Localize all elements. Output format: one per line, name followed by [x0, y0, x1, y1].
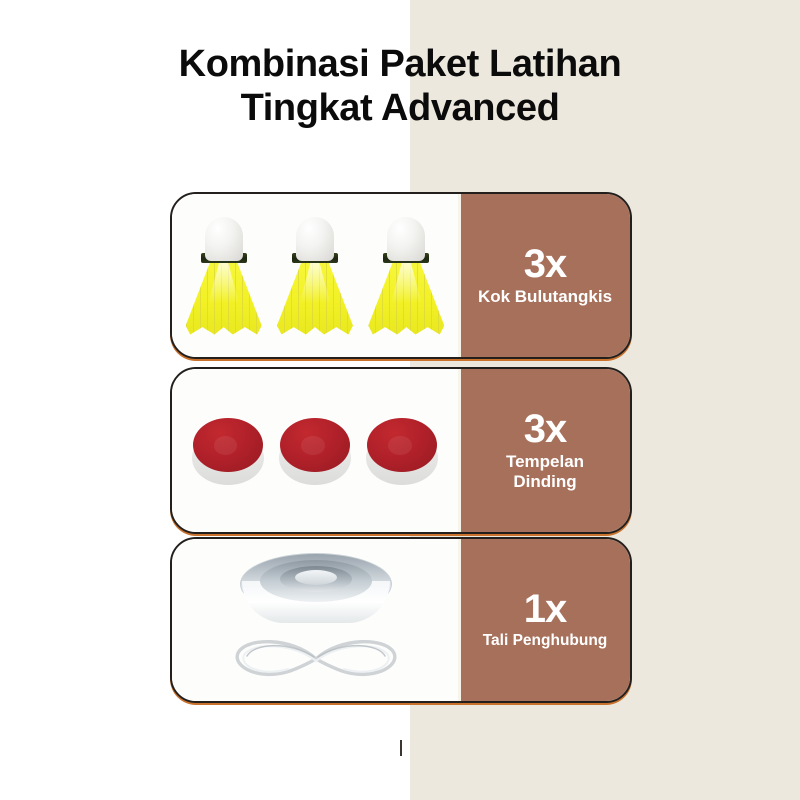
- coiled-strap-icon: [240, 553, 392, 625]
- watermark-artifact-mark: [400, 740, 402, 756]
- package-item-card[interactable]: 3x Tempelan Dinding: [170, 367, 632, 534]
- wall-mount-disc-icon: [192, 415, 264, 487]
- product-package-infographic: Kombinasi Paket Latihan Tingkat Advanced: [0, 0, 800, 800]
- wall-mount-disc-group: [172, 369, 458, 532]
- item-caption: Tempelan Dinding: [506, 452, 584, 493]
- shuttlecock-icon: [185, 217, 263, 335]
- item-caption: Tali Penghubung: [483, 632, 608, 651]
- shuttlecock-icon: [276, 217, 354, 335]
- shuttlecock-photo: [172, 194, 458, 357]
- shuttlecock-group: [172, 194, 458, 357]
- disc-top: [280, 418, 350, 472]
- package-item-label-panel: 1x Tali Penghubung: [458, 539, 630, 701]
- wall-mount-disc-icon: [366, 415, 438, 487]
- shuttlecock-cork: [387, 217, 425, 261]
- wall-mount-disc-icon: [279, 415, 351, 487]
- disc-top: [367, 418, 437, 472]
- quantity-badge: 3x: [524, 244, 567, 284]
- strap-coil-core: [295, 570, 337, 585]
- item-caption: Kok Bulutangkis: [478, 287, 612, 307]
- shuttlecock-cork: [296, 217, 334, 261]
- page-title: Kombinasi Paket Latihan Tingkat Advanced: [0, 42, 800, 131]
- strap-and-cord-group: [172, 539, 458, 701]
- wall-mount-disc-photo: [172, 369, 458, 532]
- package-item-label-panel: 3x Kok Bulutangkis: [458, 194, 630, 357]
- quantity-badge: 1x: [524, 589, 567, 629]
- shuttlecock-icon: [367, 217, 445, 335]
- cord-bundle-icon: [230, 635, 402, 683]
- quantity-badge: 3x: [524, 409, 567, 449]
- package-item-label-panel: 3x Tempelan Dinding: [458, 369, 630, 532]
- strap-and-cord-photo: [172, 539, 458, 701]
- shuttlecock-cork: [205, 217, 243, 261]
- disc-top: [193, 418, 263, 472]
- package-item-card[interactable]: 3x Kok Bulutangkis: [170, 192, 632, 359]
- package-item-card[interactable]: 1x Tali Penghubung: [170, 537, 632, 703]
